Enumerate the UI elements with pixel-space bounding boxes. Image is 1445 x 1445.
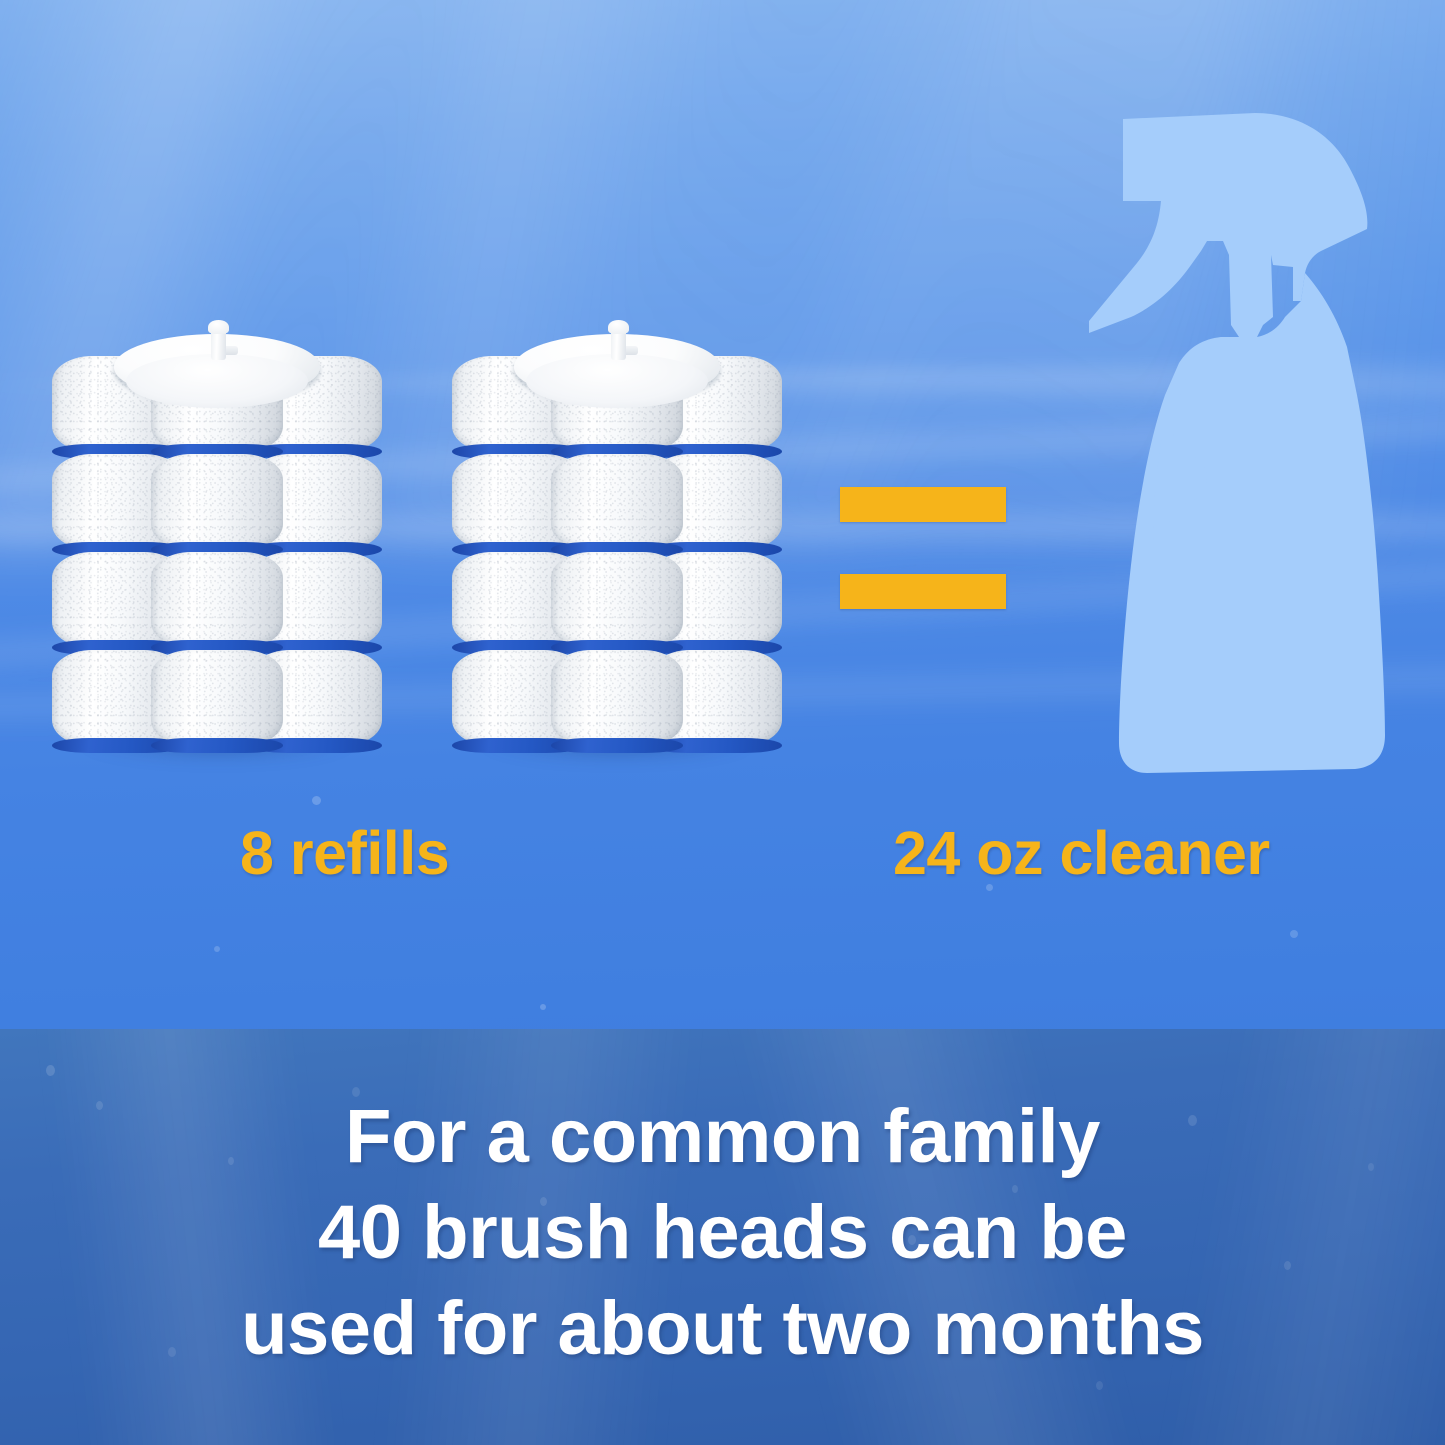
- foam-texture: [551, 650, 683, 746]
- foam-texture: [151, 650, 283, 746]
- headline-line-1: For a common family: [0, 1089, 1445, 1185]
- refill-cap-stem-nub: [608, 320, 629, 334]
- foam-texture: [551, 552, 683, 648]
- refill-stack[interactable]: [452, 320, 782, 750]
- water-speck: [214, 946, 220, 952]
- infographic-canvas: 8 refills 24 oz cleaner For a common fam…: [0, 0, 1445, 1445]
- foam-texture: [551, 454, 683, 550]
- foam-pad: [452, 650, 782, 746]
- caption-cleaner: 24 oz cleaner: [893, 818, 1270, 888]
- water-speck: [540, 1004, 546, 1010]
- bottom-panel: For a common family 40 brush heads can b…: [0, 1029, 1445, 1445]
- water-speck: [1290, 930, 1298, 938]
- pad-lobe: [151, 650, 283, 746]
- headline: For a common family 40 brush heads can b…: [0, 1089, 1445, 1377]
- pad-lobe: [551, 650, 683, 746]
- pad-lobe: [551, 454, 683, 550]
- bubble: [46, 1065, 55, 1076]
- foam-pad: [452, 552, 782, 648]
- equals-sign: [840, 487, 1006, 609]
- stripe-lobe: [151, 738, 283, 753]
- foam-pad: [452, 454, 782, 550]
- top-panel: 8 refills 24 oz cleaner: [0, 0, 1445, 1029]
- pad-lobe: [151, 552, 283, 648]
- refill-cap-rim: [526, 354, 708, 408]
- blue-stripe: [52, 738, 382, 753]
- blue-stripe: [452, 738, 782, 753]
- spray-bottle-icon: [1045, 95, 1405, 785]
- headline-line-2: 40 brush heads can be: [0, 1185, 1445, 1281]
- pad-lobe: [151, 454, 283, 550]
- foam-pad: [52, 552, 382, 648]
- foam-pad: [52, 650, 382, 746]
- refill-cap-rim: [126, 354, 308, 408]
- water-speck: [312, 796, 321, 805]
- foam-pad-column: [452, 356, 782, 750]
- stripe-lobe: [551, 738, 683, 753]
- pad-lobe: [551, 552, 683, 648]
- refill-cap-stem-nub: [208, 320, 229, 334]
- foam-texture: [151, 552, 283, 648]
- bubble: [1096, 1381, 1103, 1390]
- equals-bar-top: [840, 487, 1006, 522]
- caption-refills: 8 refills: [240, 818, 449, 888]
- headline-line-3: used for about two months: [0, 1281, 1445, 1377]
- foam-texture: [151, 454, 283, 550]
- foam-pad: [52, 454, 382, 550]
- refill-stack[interactable]: [52, 320, 382, 750]
- equals-bar-bottom: [840, 574, 1006, 609]
- foam-pad-column: [52, 356, 382, 750]
